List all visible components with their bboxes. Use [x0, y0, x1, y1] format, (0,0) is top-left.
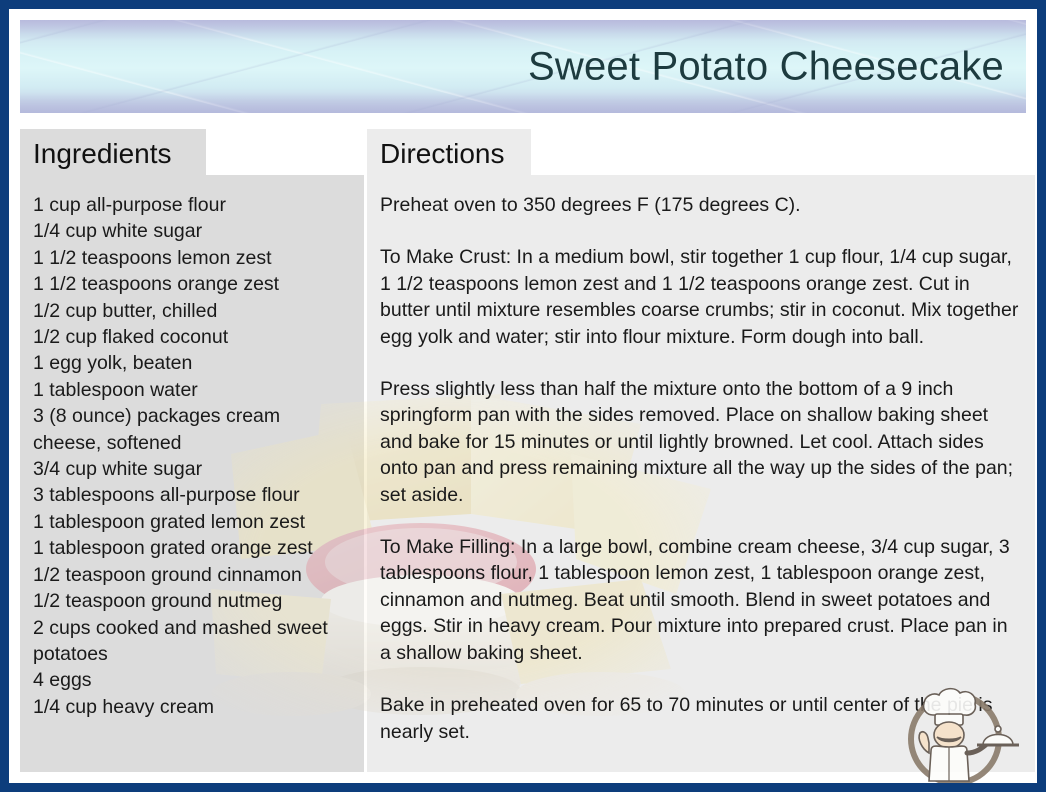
- ingredient-item: 3 tablespoons all-purpose flour: [33, 482, 352, 508]
- direction-step: Cool in pan on wire rack for 15 minutes.…: [380, 771, 1023, 772]
- ingredient-item: 2 cups cooked and mashed sweet potatoes: [33, 615, 352, 668]
- direction-step: To Make Filling: In a large bowl, combin…: [380, 534, 1023, 666]
- ingredient-item: 1/2 cup butter, chilled: [33, 298, 352, 324]
- ingredient-item: 1 cup all-purpose flour: [33, 192, 352, 218]
- direction-step: Preheat oven to 350 degrees F (175 degre…: [380, 192, 1023, 218]
- ingredient-item: 1/2 teaspoon ground cinnamon: [33, 562, 352, 588]
- directions-panel: Preheat oven to 350 degrees F (175 degre…: [367, 175, 1035, 772]
- ingredient-item: 1/4 cup heavy cream: [33, 694, 352, 720]
- ingredient-item: 1 1/2 teaspoons lemon zest: [33, 245, 352, 271]
- direction-step: Bake in preheated oven for 65 to 70 minu…: [380, 692, 1023, 745]
- page-title: Sweet Potato Cheesecake: [528, 44, 1004, 89]
- directions-steps: Preheat oven to 350 degrees F (175 degre…: [367, 175, 1035, 772]
- direction-step: Press slightly less than half the mixtur…: [380, 376, 1023, 508]
- directions-heading: Directions: [367, 129, 531, 175]
- directions-column: Directions Preheat oven to 350 degrees F…: [367, 129, 1035, 772]
- ingredient-item: 1 tablespoon water: [33, 377, 352, 403]
- ingredient-item: 3 (8 ounce) packages cream cheese, softe…: [33, 403, 352, 456]
- ingredient-item: 1/2 teaspoon ground nutmeg: [33, 588, 352, 614]
- ingredient-item: 1 1/2 teaspoons orange zest: [33, 271, 352, 297]
- ingredient-item: 1 egg yolk, beaten: [33, 350, 352, 376]
- direction-step: To Make Crust: In a medium bowl, stir to…: [380, 244, 1023, 350]
- recipe-slide: Sweet Potato Cheesecake Ingredients 1 cu…: [0, 0, 1046, 792]
- ingredient-item: 1/4 cup white sugar: [33, 218, 352, 244]
- ingredient-item: 3/4 cup white sugar: [33, 456, 352, 482]
- ingredient-item: 4 eggs: [33, 667, 352, 693]
- ingredient-item: 1 tablespoon grated orange zest: [33, 535, 352, 561]
- ingredients-heading: Ingredients: [20, 129, 206, 175]
- ingredients-list: 1 cup all-purpose flour1/4 cup white sug…: [20, 175, 364, 720]
- ingredient-item: 1/2 cup flaked coconut: [33, 324, 352, 350]
- ingredient-item: 1 tablespoon grated lemon zest: [33, 509, 352, 535]
- header-banner: Sweet Potato Cheesecake: [20, 20, 1026, 113]
- slide-page: Sweet Potato Cheesecake Ingredients 1 cu…: [9, 9, 1037, 783]
- ingredients-panel: 1 cup all-purpose flour1/4 cup white sug…: [20, 175, 364, 772]
- ingredients-column: Ingredients 1 cup all-purpose flour1/4 c…: [20, 129, 364, 772]
